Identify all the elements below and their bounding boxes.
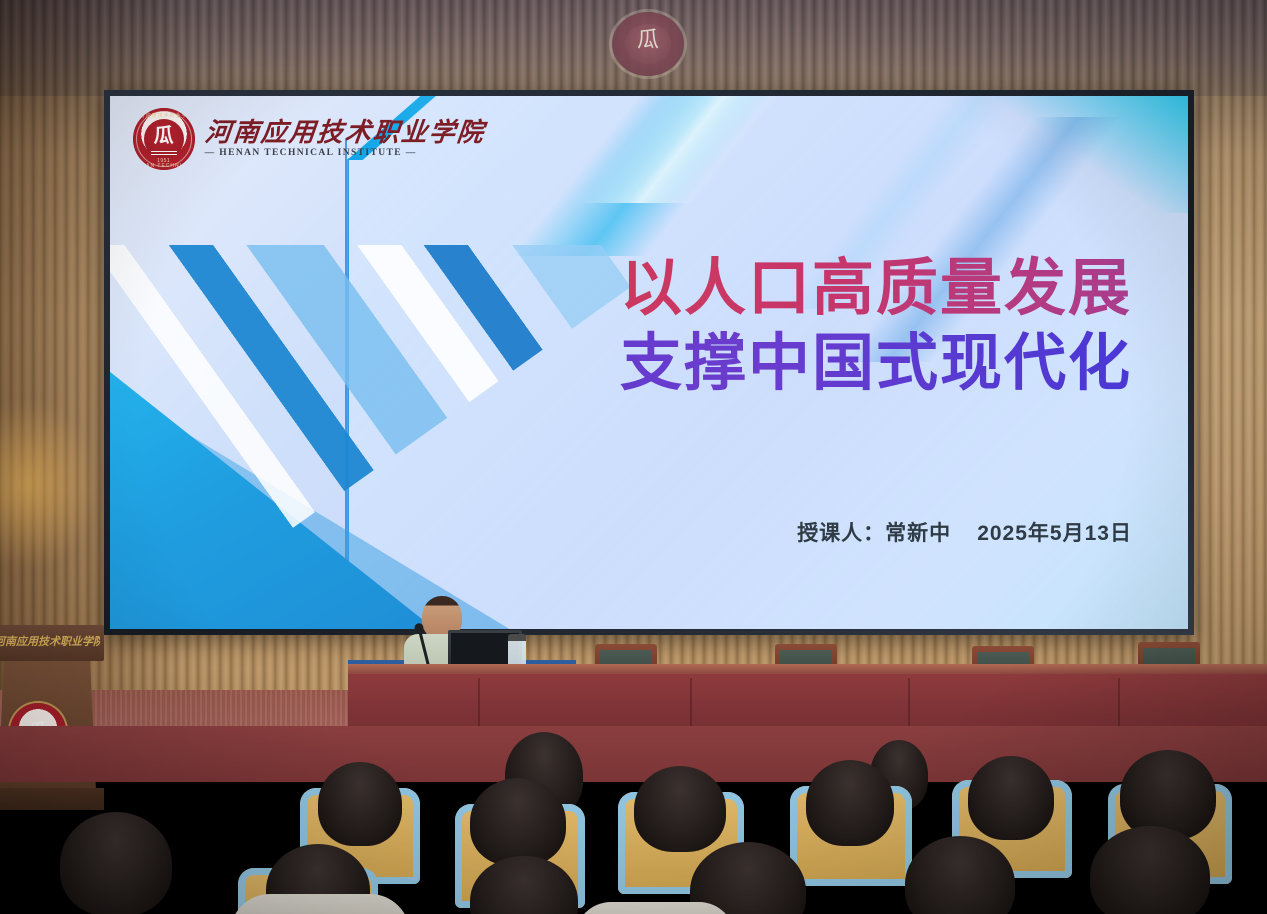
institution-name-english: — HENAN TECHNICAL INSTITUTE — bbox=[205, 148, 485, 158]
audience-head bbox=[318, 762, 402, 846]
wall-school-emblem-icon: 瓜 bbox=[612, 12, 684, 76]
slide-title: 以人口高质量发展 支撑中国式现代化 bbox=[110, 251, 1132, 402]
audience-head bbox=[1120, 750, 1216, 840]
emblem-wave-lines bbox=[151, 149, 177, 155]
projection-screen-bezel: 河南应用技术职业学院 瓜 1951 HENAN TECHNICAL INSTIT… bbox=[104, 90, 1194, 635]
slide-title-line-2: 支撑中国式现代化 bbox=[110, 326, 1132, 402]
audience-head bbox=[806, 760, 894, 846]
audience-shoulders bbox=[575, 902, 735, 914]
auditorium-scene: 瓜 bbox=[0, 0, 1267, 914]
wall-light-glow bbox=[0, 400, 100, 570]
podium-nameplate: 河南应用技术职业学院 bbox=[0, 633, 100, 649]
wall-emblem-glyph: 瓜 bbox=[637, 29, 659, 51]
projection-screen: 河南应用技术职业学院 瓜 1951 HENAN TECHNICAL INSTIT… bbox=[110, 96, 1188, 629]
audience-head bbox=[470, 778, 566, 866]
audience-head bbox=[60, 812, 172, 914]
slide-title-line-1: 以人口高质量发展 bbox=[110, 251, 1132, 327]
audience-shoulders bbox=[230, 894, 410, 914]
audience-area bbox=[0, 726, 1267, 914]
audience-head bbox=[634, 766, 726, 852]
byline-presenter: 授课人：常新中 bbox=[797, 522, 951, 545]
slide-byline: 授课人：常新中2025年5月13日 bbox=[797, 517, 1132, 547]
institution-name-chinese: 河南应用技术职业学院 bbox=[203, 120, 486, 146]
emblem-arc-bottom-text: HENAN TECHNICAL INSTITUTE bbox=[133, 163, 195, 169]
byline-date: 2025年5月13日 bbox=[977, 522, 1132, 545]
emblem-glyph: 瓜 bbox=[154, 126, 174, 146]
emblem-arc-top-text: 河南应用技术职业学院 bbox=[133, 112, 195, 119]
audience-head bbox=[968, 756, 1054, 840]
slide-institution-logo: 河南应用技术职业学院 瓜 1951 HENAN TECHNICAL INSTIT… bbox=[133, 108, 485, 170]
school-emblem-icon: 河南应用技术职业学院 瓜 1951 HENAN TECHNICAL INSTIT… bbox=[133, 108, 195, 170]
audience-backdrop bbox=[0, 726, 1267, 782]
